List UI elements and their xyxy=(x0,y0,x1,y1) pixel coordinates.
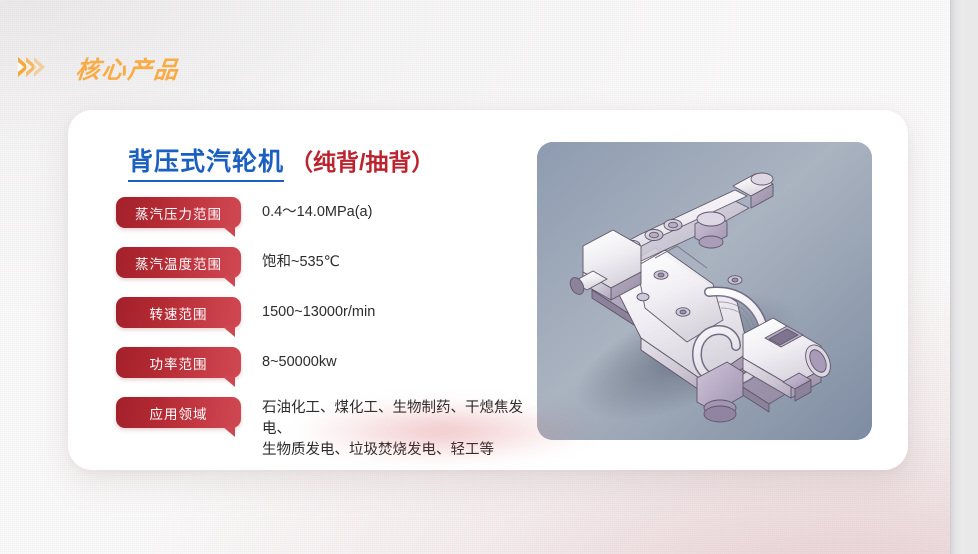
double-chevron-right-icon xyxy=(18,57,42,77)
product-image xyxy=(537,142,872,440)
spec-value: 0.4～14.0MPa(a) xyxy=(262,202,372,223)
spec-label: 应用领域 xyxy=(150,403,208,423)
product-title-main: 背压式汽轮机 xyxy=(128,142,284,182)
tag-tail-icon xyxy=(222,226,235,237)
slide-right-rail xyxy=(950,0,964,554)
section-title: 核心产品 xyxy=(74,50,182,85)
spec-row: 应用领域 石油化工、煤化工、生物制药、干熄焦发电、 生物质发电、垃圾焚烧发电、轻… xyxy=(116,395,536,445)
spec-tag: 应用领域 xyxy=(116,397,244,428)
spec-row: 功率范围 8~50000kw xyxy=(116,345,536,395)
product-card: 背压式汽轮机 （纯背/抽背） 蒸汽压力范围 0.4～14.0MPa(a) 蒸汽温… xyxy=(68,110,908,470)
spec-value: 8~50000kw xyxy=(262,352,337,373)
tag-tail-icon xyxy=(222,376,235,387)
spec-row: 蒸汽压力范围 0.4～14.0MPa(a) xyxy=(116,195,536,245)
spec-tag: 转速范围 xyxy=(116,297,244,328)
tag-tail-icon xyxy=(222,426,235,437)
spec-tag: 功率范围 xyxy=(116,347,244,378)
spec-row: 蒸汽温度范围 饱和~535℃ xyxy=(116,245,536,295)
spec-label: 蒸汽压力范围 xyxy=(135,203,222,223)
spec-list: 蒸汽压力范围 0.4～14.0MPa(a) 蒸汽温度范围 饱和~535℃ 转速范… xyxy=(116,195,536,445)
spec-value: 饱和~535℃ xyxy=(262,252,340,273)
spec-tag: 蒸汽压力范围 xyxy=(116,197,244,228)
spec-tag: 蒸汽温度范围 xyxy=(116,247,244,278)
product-title: 背压式汽轮机 （纯背/抽背） xyxy=(128,142,434,182)
spec-label: 转速范围 xyxy=(150,303,208,323)
spec-label: 蒸汽温度范围 xyxy=(135,253,222,273)
spec-label: 功率范围 xyxy=(150,353,208,373)
spec-value: 石油化工、煤化工、生物制药、干熄焦发电、 生物质发电、垃圾焚烧发电、轻工等 xyxy=(262,398,536,461)
product-title-sub: （纯背/抽背） xyxy=(290,143,434,177)
tag-tail-icon xyxy=(222,326,235,337)
spec-value: 1500~13000r/min xyxy=(262,302,375,323)
slide-canvas: 核心产品 背压式汽轮机 （纯背/抽背） 蒸汽压力范围 0.4～14.0MPa(a… xyxy=(0,0,964,554)
spec-row: 转速范围 1500~13000r/min xyxy=(116,295,536,345)
tag-tail-icon xyxy=(222,276,235,287)
turbine-3d-render xyxy=(537,142,872,440)
section-header: 核心产品 xyxy=(18,48,180,86)
